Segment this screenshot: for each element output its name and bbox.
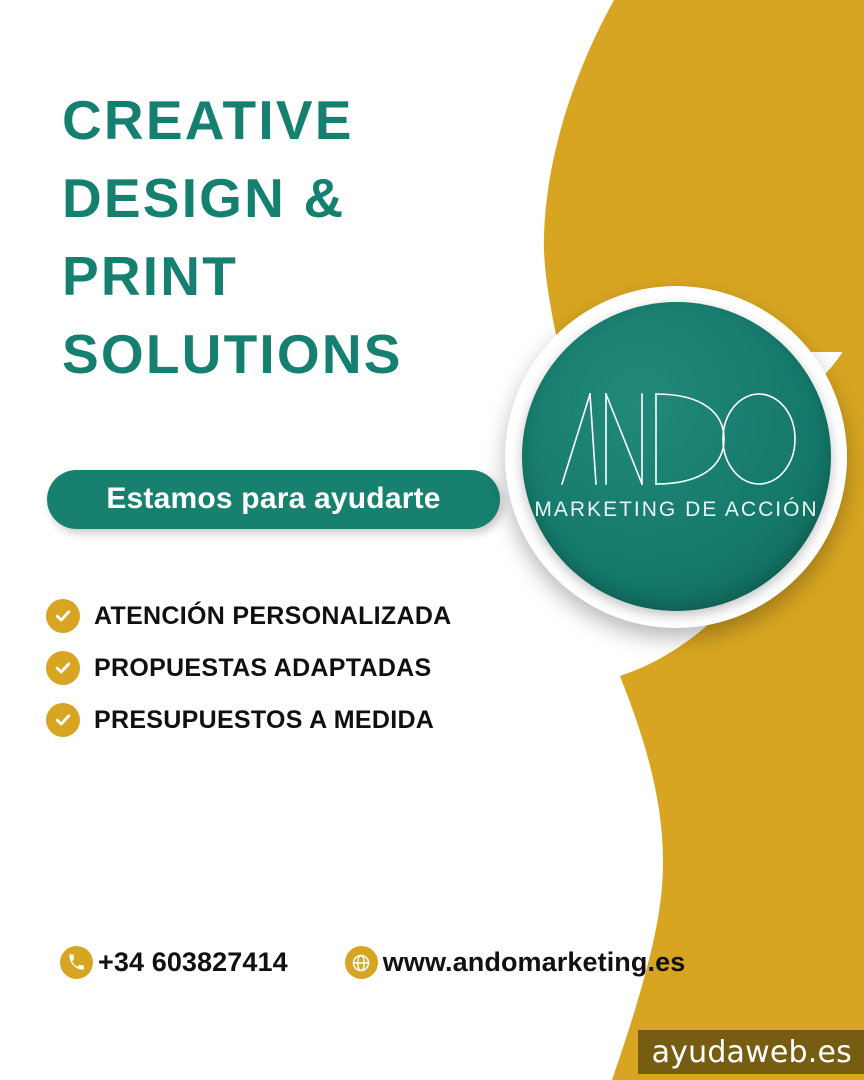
brand-logo: MARKETING DE ACCIÓN: [505, 286, 847, 628]
logo-wordmark-ando: [556, 390, 798, 486]
watermark: ayudaweb.es: [638, 1030, 864, 1074]
check-circle-icon: [46, 651, 80, 685]
cta-button-label: Estamos para ayudarte: [106, 482, 440, 516]
check-circle-icon: [46, 703, 80, 737]
logo-tagline: MARKETING DE ACCIÓN: [522, 498, 831, 522]
feature-label: PROPUESTAS ADAPTADAS: [94, 654, 432, 683]
check-circle-icon: [46, 599, 80, 633]
logo-teal-disc: MARKETING DE ACCIÓN: [522, 302, 831, 611]
headline-line-1: CREATIVE: [62, 81, 532, 159]
headline-line-3: PRINT: [62, 237, 532, 315]
contact-bar: +34 603827414 www.andomarketing.es: [60, 946, 685, 979]
list-item: ATENCIÓN PERSONALIZADA: [46, 590, 546, 642]
contact-phone[interactable]: +34 603827414: [60, 946, 288, 979]
page-title: CREATIVE DESIGN & PRINT SOLUTIONS: [62, 81, 532, 393]
cta-button[interactable]: Estamos para ayudarte: [47, 470, 500, 529]
headline-line-2: DESIGN &: [62, 159, 532, 237]
watermark-label: ayudaweb.es: [652, 1035, 852, 1070]
feature-label: PRESUPUESTOS A MEDIDA: [94, 706, 434, 735]
poster-canvas: CREATIVE DESIGN & PRINT SOLUTIONS Estamo…: [0, 0, 864, 1080]
list-item: PRESUPUESTOS A MEDIDA: [46, 694, 546, 746]
phone-icon: [60, 946, 93, 979]
phone-number: +34 603827414: [98, 947, 288, 978]
globe-icon: [345, 946, 378, 979]
feature-list: ATENCIÓN PERSONALIZADA PROPUESTAS ADAPTA…: [46, 590, 546, 746]
feature-label: ATENCIÓN PERSONALIZADA: [94, 602, 452, 631]
contact-website[interactable]: www.andomarketing.es: [345, 946, 686, 979]
website-url: www.andomarketing.es: [383, 947, 686, 978]
headline-line-4: SOLUTIONS: [62, 315, 532, 393]
list-item: PROPUESTAS ADAPTADAS: [46, 642, 546, 694]
